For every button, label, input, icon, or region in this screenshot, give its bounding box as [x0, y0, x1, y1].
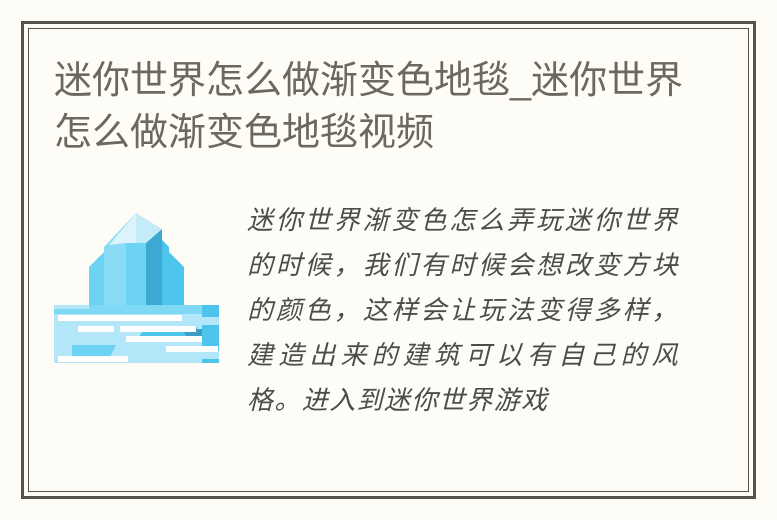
- article-body-text: 迷你世界渐变色怎么弄玩迷你世界的时候，我们有时候会想改变方块的颜色，这样会让玩法…: [247, 199, 679, 424]
- document-page: 迷你世界怎么做渐变色地毯_迷你世界怎么做渐变色地毯视频: [0, 0, 777, 520]
- page-content: 迷你世界怎么做渐变色地毯_迷你世界怎么做渐变色地毯视频: [29, 29, 748, 491]
- page-title: 迷你世界怎么做渐变色地毯_迷你世界怎么做渐变色地毯视频: [54, 55, 694, 159]
- iceberg-illustration: [54, 205, 219, 365]
- article-body-row: 迷你世界渐变色怎么弄玩迷你世界的时候，我们有时候会想改变方块的颜色，这样会让玩法…: [54, 199, 714, 469]
- iceberg-icon: [54, 205, 219, 365]
